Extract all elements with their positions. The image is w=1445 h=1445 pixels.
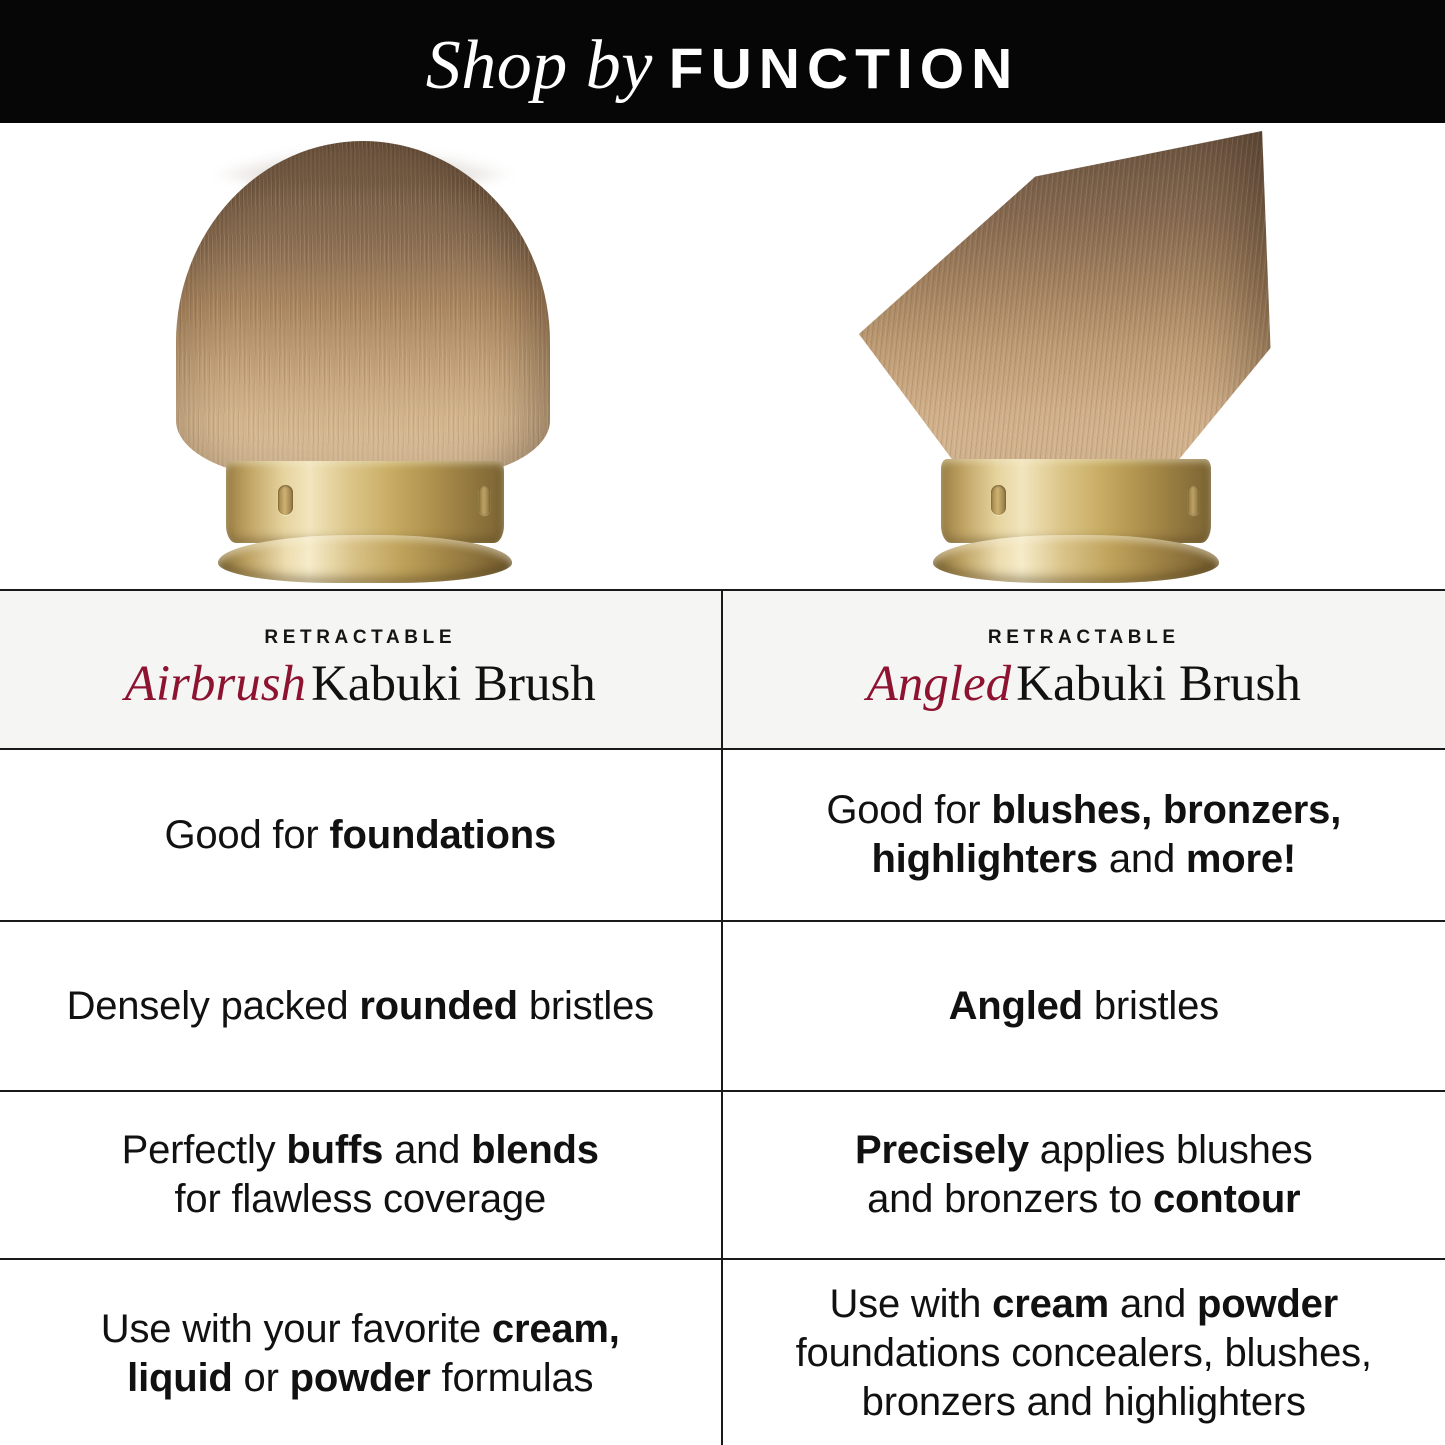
product-title-row: RETRACTABLE AirbrushKabuki Brush RETRACT… <box>0 591 1445 750</box>
feature-text: Perfectly buffs and blendsfor flawless c… <box>122 1126 599 1224</box>
feature-row: Perfectly buffs and blendsfor flawless c… <box>0 1092 1445 1260</box>
comparison-table: RETRACTABLE AirbrushKabuki Brush RETRACT… <box>0 589 1445 1445</box>
bristle-tip-shading <box>176 133 550 187</box>
shop-by-function-infographic: Shop by FUNCTION <box>0 0 1445 1445</box>
product-name-rest: Kabuki Brush <box>1016 656 1301 712</box>
brush-ferrule-gold <box>226 461 504 543</box>
product-accent-word: Angled <box>867 656 1016 712</box>
feature-cell-right: Precisely applies blushesand bronzers to… <box>723 1092 1445 1258</box>
product-name-angled: AngledKabuki Brush <box>867 658 1301 711</box>
ferrule-slot-icon <box>278 485 293 515</box>
feature-text: Precisely applies blushesand bronzers to… <box>855 1126 1313 1224</box>
feature-cell-right: Use with cream and powderfoundations con… <box>723 1260 1445 1445</box>
feature-cell-left: Use with your favorite cream,liquid or p… <box>0 1260 723 1445</box>
brush-base-ring <box>933 535 1219 583</box>
feature-text: Use with cream and powderfoundations con… <box>796 1280 1372 1426</box>
product-title-cell-airbrush[interactable]: RETRACTABLE AirbrushKabuki Brush <box>0 591 723 748</box>
feature-cell-right: Angled bristles <box>723 922 1445 1090</box>
ferrule-slot-icon <box>991 485 1006 515</box>
feature-cell-left: Densely packed rounded bristles <box>0 922 723 1090</box>
page-title-caps: FUNCTION <box>669 36 1019 102</box>
product-name-airbrush: AirbrushKabuki Brush <box>125 658 596 711</box>
feature-row: Densely packed rounded bristles Angled b… <box>0 922 1445 1092</box>
feature-cell-left: Perfectly buffs and blendsfor flawless c… <box>0 1092 723 1258</box>
product-photo-angled[interactable] <box>723 123 1445 589</box>
product-title-cell-angled[interactable]: RETRACTABLE AngledKabuki Brush <box>723 591 1445 748</box>
product-eyebrow-label: RETRACTABLE <box>988 627 1180 649</box>
product-accent-word: Airbrush <box>125 656 311 712</box>
feature-row: Good for foundations Good for blushes, b… <box>0 750 1445 922</box>
page-title: Shop by FUNCTION <box>426 26 1020 106</box>
airbrush-kabuki-brush-image <box>148 123 578 589</box>
bristle-texture <box>851 131 1271 481</box>
product-eyebrow-label: RETRACTABLE <box>264 627 456 649</box>
feature-text: Good for foundations <box>164 811 556 860</box>
product-name-rest: Kabuki Brush <box>311 656 596 712</box>
brush-base-ring <box>218 535 512 583</box>
header-banner: Shop by FUNCTION <box>0 0 1445 123</box>
brush-ferrule-gold <box>941 459 1211 543</box>
feature-text: Densely packed rounded bristles <box>67 982 654 1031</box>
feature-cell-right: Good for blushes, bronzers,highlighters … <box>723 750 1445 920</box>
product-photo-airbrush[interactable] <box>0 123 723 589</box>
feature-text: Angled bristles <box>949 982 1219 1031</box>
feature-row: Use with your favorite cream,liquid or p… <box>0 1260 1445 1445</box>
ferrule-slot-secondary-icon <box>479 485 490 515</box>
angled-kabuki-brush-image <box>831 123 1291 589</box>
page-title-script: Shop by <box>426 26 669 106</box>
brush-bristles-rounded <box>176 141 550 479</box>
product-photo-row <box>0 123 1445 589</box>
bristle-highlight-texture <box>176 141 550 479</box>
feature-text: Use with your favorite cream,liquid or p… <box>101 1305 620 1403</box>
brush-bristles-angled <box>851 131 1271 481</box>
feature-text: Good for blushes, bronzers,highlighters … <box>826 786 1341 884</box>
ferrule-slot-secondary-icon <box>1188 485 1199 515</box>
feature-cell-left: Good for foundations <box>0 750 723 920</box>
